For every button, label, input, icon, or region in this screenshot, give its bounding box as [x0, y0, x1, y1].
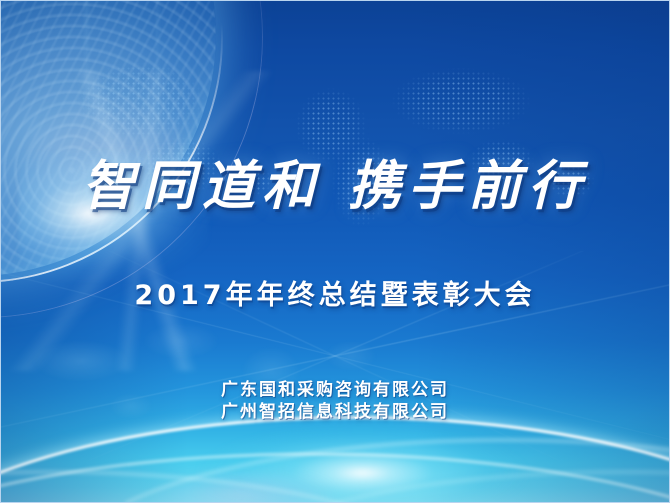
main-title-part-1: 智同道和: [82, 155, 322, 217]
presentation-slide: 智同道和携手前行 2017年年终总结暨表彰大会 广东国和采购咨询有限公司 广州智…: [0, 0, 670, 503]
slide-main-title: 智同道和携手前行: [1, 157, 669, 215]
company-name-secondary: 广州智招信息科技有限公司: [1, 397, 669, 422]
slide-text-layer: 智同道和携手前行 2017年年终总结暨表彰大会 广东国和采购咨询有限公司 广州智…: [1, 1, 669, 502]
slide-subtitle: 2017年年终总结暨表彰大会: [1, 273, 669, 312]
main-title-part-2: 携手前行: [348, 155, 588, 217]
